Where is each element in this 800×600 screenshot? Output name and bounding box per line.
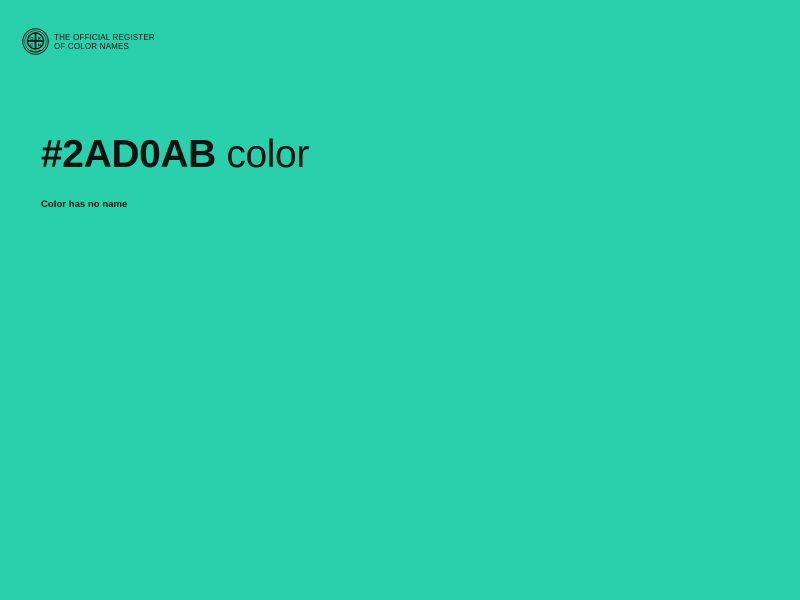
color-swatch-background	[0, 0, 800, 600]
svg-text:O: O	[30, 36, 34, 41]
svg-text:C: C	[30, 43, 33, 48]
color-page: O R C N THE OFFICIAL REGISTER OF COLOR N…	[0, 0, 800, 600]
page-title-suffix: color	[226, 133, 309, 176]
brand-wordmark: THE OFFICIAL REGISTER OF COLOR NAMES	[54, 32, 155, 52]
register-seal-icon: O R C N	[22, 28, 49, 55]
brand-line-primary: THE OFFICIAL REGISTER	[54, 33, 155, 43]
color-name-status: Color has no name	[41, 199, 127, 211]
page-title-hex: #2AD0AB	[41, 133, 216, 176]
page-title: #2AD0AB color	[41, 132, 309, 178]
svg-text:R: R	[38, 36, 41, 41]
brand-lockup[interactable]: O R C N THE OFFICIAL REGISTER OF COLOR N…	[22, 28, 155, 55]
brand-line-secondary: OF COLOR NAMES	[54, 42, 155, 52]
svg-text:N: N	[38, 43, 41, 48]
